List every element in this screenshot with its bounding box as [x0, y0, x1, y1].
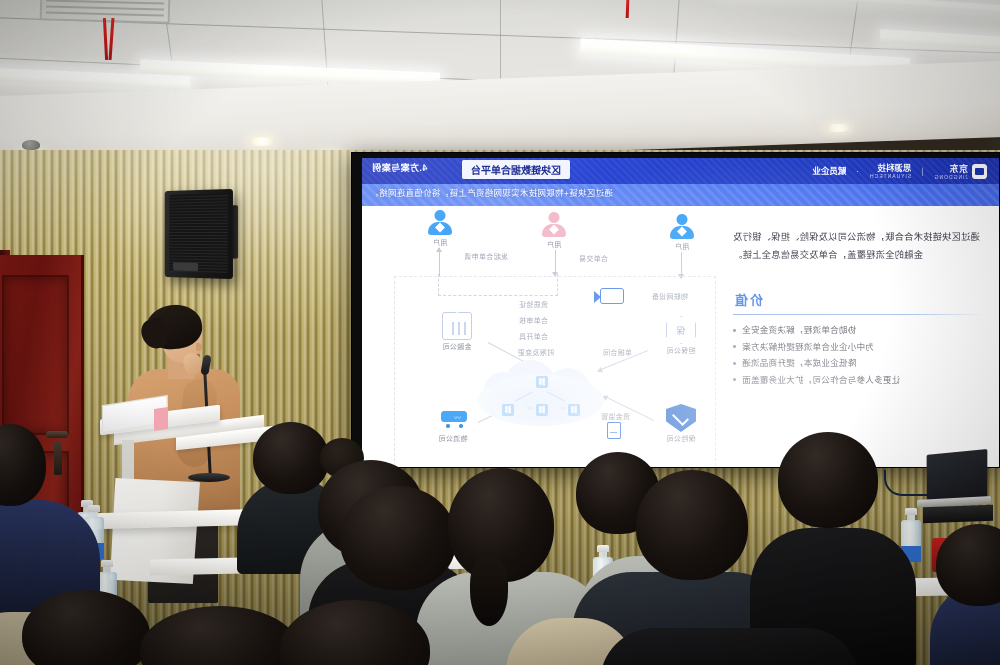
screen-bezel [352, 153, 1000, 468]
lectern [100, 394, 230, 584]
wall-loudspeaker [165, 189, 233, 279]
red-ribbon-marker [109, 18, 115, 60]
conference-room-photo: 京东 JINGDONG | 思源科技 SIYUANTECH · 赋员企业 4.方… [0, 0, 1000, 665]
presenter-laptop[interactable] [917, 452, 989, 514]
smoke-detector [22, 140, 40, 150]
red-ribbon-marker [626, 0, 630, 18]
laptop-screen [927, 449, 988, 501]
presentation-screen[interactable]: 京东 JINGDONG | 思源科技 SIYUANTECH · 赋员企业 4.方… [351, 152, 1000, 468]
red-ribbon-marker [103, 18, 108, 60]
lectern-note-pink [154, 407, 168, 431]
door-lock [54, 441, 62, 475]
door-handle[interactable] [46, 431, 68, 438]
downlight [248, 137, 276, 146]
downlight [826, 124, 852, 132]
laptop-stand [923, 505, 993, 523]
ceiling-light-strip [720, 0, 1000, 13]
